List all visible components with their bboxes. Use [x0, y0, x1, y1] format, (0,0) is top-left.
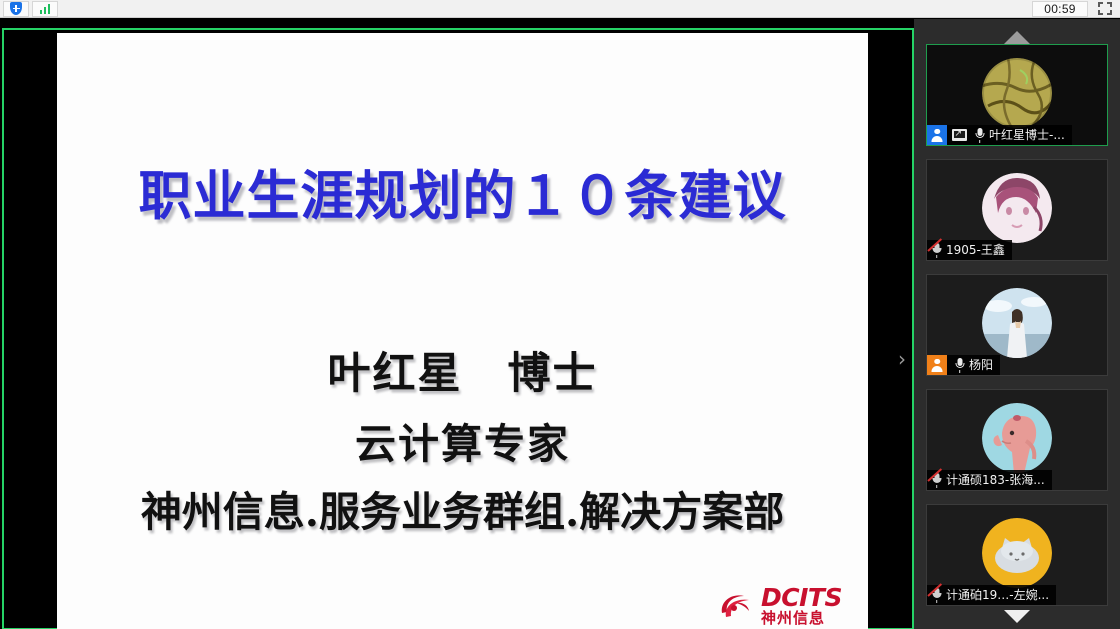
shared-screen-stage: 职业生涯规划的１０条建议 叶红星 博士 云计算专家 神州信息.服务业务群组.解决… — [0, 19, 914, 629]
slide-line-presenter: 叶红星 博士 — [57, 339, 868, 401]
collapse-panel-chevron-icon[interactable]: › — [898, 349, 914, 371]
participant-tile[interactable]: 叶红星博士-... — [926, 44, 1108, 146]
participant-tile[interactable]: 计通砶19…-左婉... — [926, 504, 1108, 606]
slide-line-role: 云计算专家 — [57, 410, 868, 470]
dcits-logo: DCITS 神州信息 — [718, 585, 842, 626]
scroll-up-arrow-icon[interactable] — [1004, 31, 1030, 44]
guest-badge-icon — [927, 355, 947, 375]
host-badge-icon — [927, 125, 947, 145]
participant-name: 计通砶19…-左婉... — [946, 585, 1049, 605]
dcits-logo-text: DCITS 神州信息 — [761, 585, 842, 626]
fullscreen-icon[interactable] — [1098, 2, 1112, 15]
meeting-window: 00:59 职业生涯规划的１０条建议 叶红星 博士 云计算专家 神州信息.服务业… — [0, 0, 1120, 629]
scroll-down-arrow-icon[interactable] — [1004, 610, 1030, 623]
slide-body: 叶红星 博士 云计算专家 神州信息.服务业务群组.解决方案部 — [57, 339, 868, 538]
participant-tile-list: 叶红星博士-... — [914, 44, 1120, 619]
dcits-swoosh-icon — [718, 591, 754, 621]
toolbar-left-group — [0, 1, 58, 17]
tile-nameplate: 叶红星博士-... — [927, 125, 1072, 145]
microphone-icon — [953, 358, 966, 373]
toolbar-right-group: 00:59 — [1032, 1, 1120, 17]
avatar — [982, 288, 1052, 358]
avatar — [982, 403, 1052, 473]
top-toolbar: 00:59 — [0, 0, 1120, 18]
participant-name: 杨阳 — [969, 355, 993, 375]
dcits-logo-en: DCITS — [761, 585, 842, 610]
shield-plus-icon[interactable] — [3, 1, 29, 17]
microphone-icon — [973, 128, 986, 143]
microphone-muted-icon — [930, 473, 943, 488]
participants-panel: 叶红星博士-... — [914, 19, 1120, 629]
participant-name: 叶红星博士-... — [989, 125, 1065, 145]
signal-bars-icon[interactable] — [32, 1, 58, 17]
meeting-timer: 00:59 — [1032, 1, 1088, 17]
avatar — [982, 173, 1052, 243]
participant-tile[interactable]: 计通硕183-张海... — [926, 389, 1108, 491]
microphone-muted-icon — [930, 243, 943, 258]
slide-title: 职业生涯规划的１０条建议 — [57, 154, 868, 230]
avatar — [982, 518, 1052, 588]
tile-nameplate: 计通硕183-张海... — [927, 470, 1052, 490]
screen-share-icon — [952, 129, 967, 141]
participant-name: 1905-王鑫 — [946, 240, 1005, 260]
dcits-logo-cn: 神州信息 — [761, 611, 842, 626]
tile-nameplate: 杨阳 — [927, 355, 1000, 375]
tile-nameplate: 1905-王鑫 — [927, 240, 1012, 260]
participant-name: 计通硕183-张海... — [946, 470, 1045, 490]
participant-tile[interactable]: 1905-王鑫 — [926, 159, 1108, 261]
microphone-muted-icon — [930, 588, 943, 603]
shield-glyph — [10, 2, 22, 15]
avatar — [982, 58, 1052, 128]
signal-bars-glyph — [40, 3, 50, 14]
slide-line-org: 神州信息.服务业务群组.解决方案部 — [57, 478, 868, 538]
participant-tile[interactable]: 杨阳 — [926, 274, 1108, 376]
tile-nameplate: 计通砶19…-左婉... — [927, 585, 1056, 605]
presentation-slide: 职业生涯规划的１０条建议 叶红星 博士 云计算专家 神州信息.服务业务群组.解决… — [57, 33, 868, 629]
